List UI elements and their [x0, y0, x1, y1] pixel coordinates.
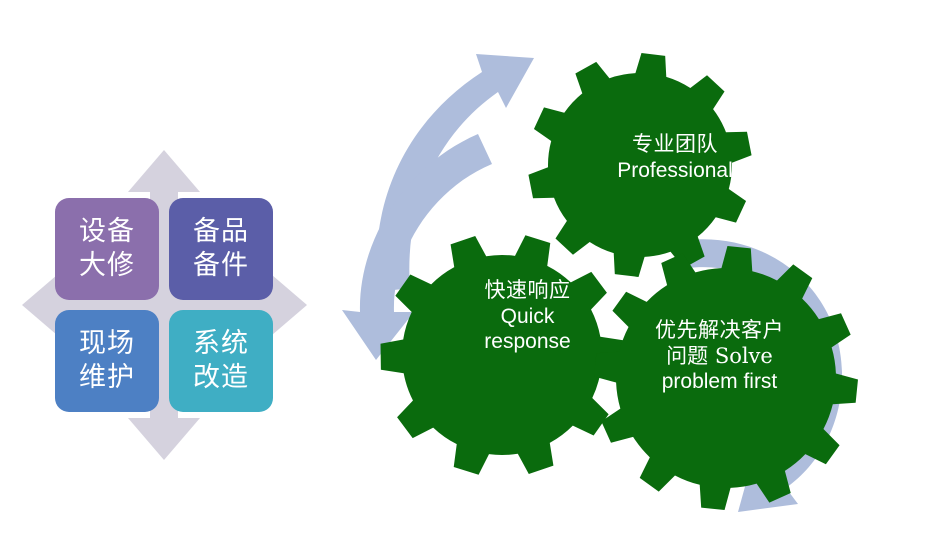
matrix-cell-line-2: 备件 [193, 249, 249, 283]
matrix-cell-equipment-overhaul[interactable]: 设备 大修 [55, 198, 159, 300]
matrix-cell-line-1: 设备 [79, 215, 135, 249]
service-promise-gears: 专业团队 Professional 快速响应 Quick response 优先… [330, 0, 927, 554]
matrix-cell-onsite-maintenance[interactable]: 现场 维护 [55, 310, 159, 412]
matrix-cell-line-2: 维护 [79, 361, 135, 395]
gear-diagram-graphic [330, 0, 927, 554]
matrix-cell-line-1: 备品 [193, 215, 249, 249]
gear-solve-problem-first[interactable] [594, 246, 858, 510]
matrix-cell-system-retrofit[interactable]: 系统 改造 [169, 310, 273, 412]
matrix-cell-line-2: 大修 [79, 249, 135, 283]
matrix-cell-spare-parts[interactable]: 备品 备件 [169, 198, 273, 300]
matrix-grid: 设备 大修 备品 备件 现场 维护 系统 改造 [55, 198, 273, 413]
matrix-cell-line-1: 系统 [193, 327, 249, 361]
gear-quick-response[interactable] [381, 235, 624, 474]
service-capability-matrix: 设备 大修 备品 备件 现场 维护 系统 改造 [0, 0, 330, 554]
slide-canvas: 设备 大修 备品 备件 现场 维护 系统 改造 [0, 0, 927, 554]
matrix-cell-line-1: 现场 [79, 327, 135, 361]
matrix-cell-line-2: 改造 [193, 361, 249, 395]
